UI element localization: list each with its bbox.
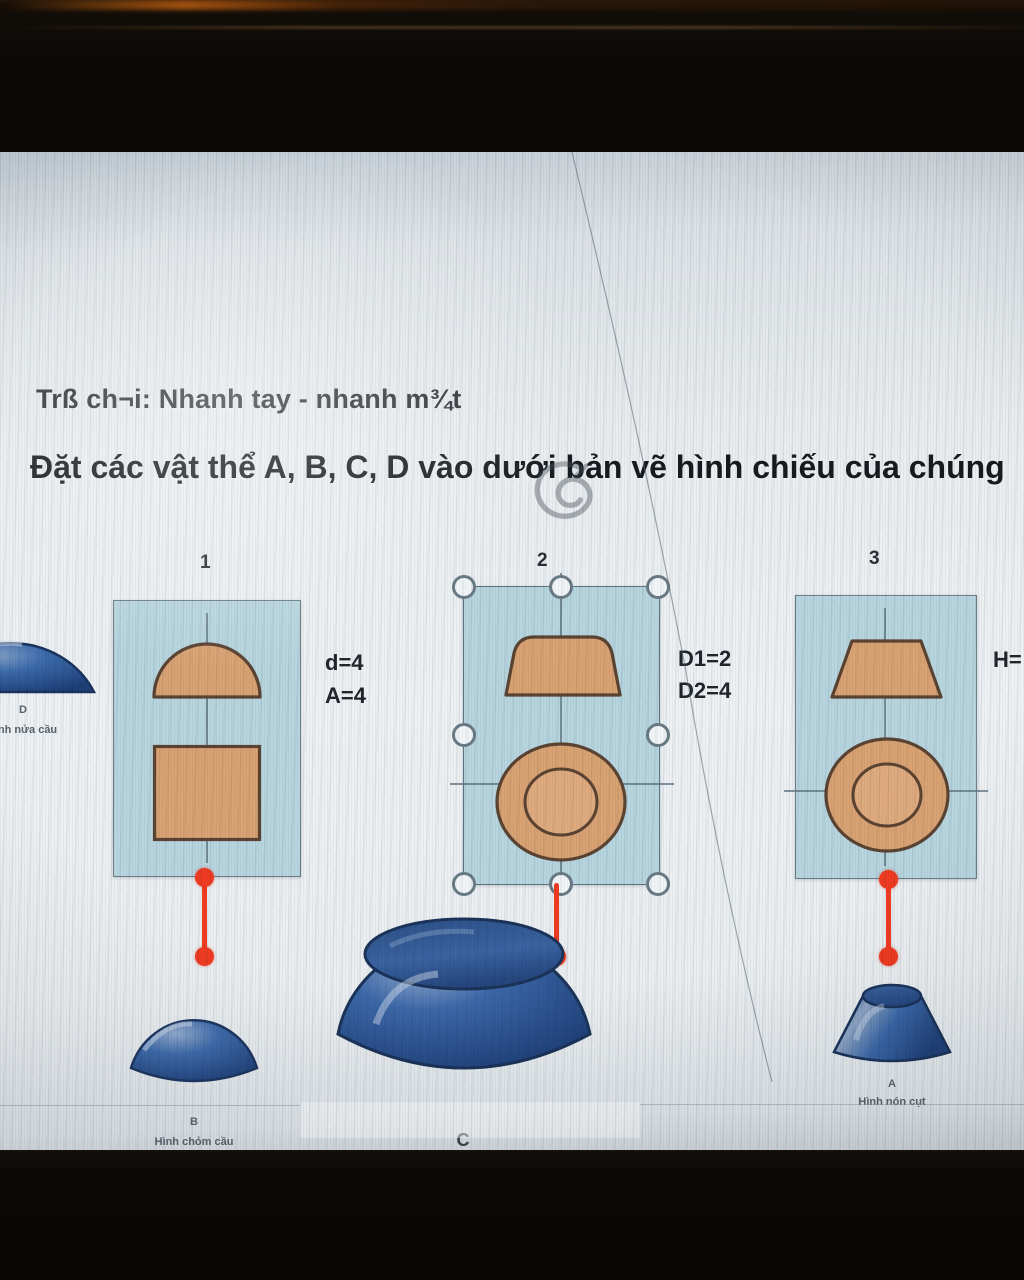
selection-handle-middle-right[interactable] [646,723,670,747]
figure-3-dimension-h: H= [993,644,1022,676]
object-a-letter: A [852,1078,932,1090]
object-c-spherical-zone[interactable] [334,912,594,1104]
top-view-square [152,744,262,842]
slide-panel-seam-right [640,1104,1024,1105]
selection-handle-top-left[interactable] [452,575,476,599]
figure-1-number: 1 [200,552,211,574]
slide-subtitle: Trß ch¬i: Nhanh tay - nhanh m¾t [36,384,462,415]
figure-3-connector-line[interactable] [886,877,891,957]
object-d-letter: D [0,704,66,716]
object-d-name: Hình nửa cầu [0,724,92,736]
figure-1-connector-dot-top[interactable] [195,868,214,887]
front-view-trapezoid [829,638,944,700]
object-a-truncated-cone[interactable] [828,972,956,1068]
slide-panel-seam-left [0,1105,300,1106]
front-view-rounded-trapezoid [502,633,624,699]
selection-handle-bottom-center[interactable] [549,872,573,896]
slide-title: Đặt các vật thể A, B, C, D vào dưới bản … [30,448,1005,487]
top-view-concentric-circles [823,736,951,854]
figure-1-connector-line[interactable] [202,875,207,957]
object-b-letter: B [154,1116,234,1128]
selection-handle-bottom-left[interactable] [452,872,476,896]
front-view-semicircle [151,634,263,700]
selection-handle-bottom-right[interactable] [646,872,670,896]
bezel-light-glow [0,0,1024,10]
figure-2-dimension-d1: D1=2 [678,643,731,675]
figure-1-dimension-d: d=4 [325,647,364,679]
figure-1-connector-dot-bottom[interactable] [195,947,214,966]
object-a-name: Hình nón cụt [822,1096,962,1108]
figure-3-connector-dot-bottom[interactable] [879,947,898,966]
slide-content-area: Trß ch¬i: Nhanh tay - nhanh m¾t Đặt các … [0,152,1024,1152]
bezel-edge-highlight [0,26,1024,29]
object-d-dome[interactable] [0,588,96,698]
laptop-top-bezel [0,0,1024,152]
figure-2-drawing-card[interactable] [463,586,660,885]
figure-1-dimension-a: A=4 [325,680,366,712]
top-view-concentric-circles [494,741,628,863]
figure-2-dimension-d2: D2=4 [678,675,731,707]
figure-3-connector-dot-top[interactable] [879,870,898,889]
object-b-name: Hình chỏm cầu [124,1136,264,1148]
slide-panel-highlight [300,1102,640,1138]
selection-handle-top-center[interactable] [549,575,573,599]
figure-3-number: 3 [869,548,880,570]
figure-1-drawing-card[interactable] [113,600,301,877]
figure-3-drawing-card[interactable] [795,595,977,879]
object-b-spherical-cap[interactable] [128,994,260,1090]
selection-handle-middle-left[interactable] [452,723,476,747]
figure-2-number: 2 [537,550,548,572]
laptop-screen-photo: Trß ch¬i: Nhanh tay - nhanh m¾t Đặt các … [0,0,1024,1280]
selection-handle-top-right[interactable] [646,575,670,599]
meeting-toolbar [0,1150,1024,1280]
